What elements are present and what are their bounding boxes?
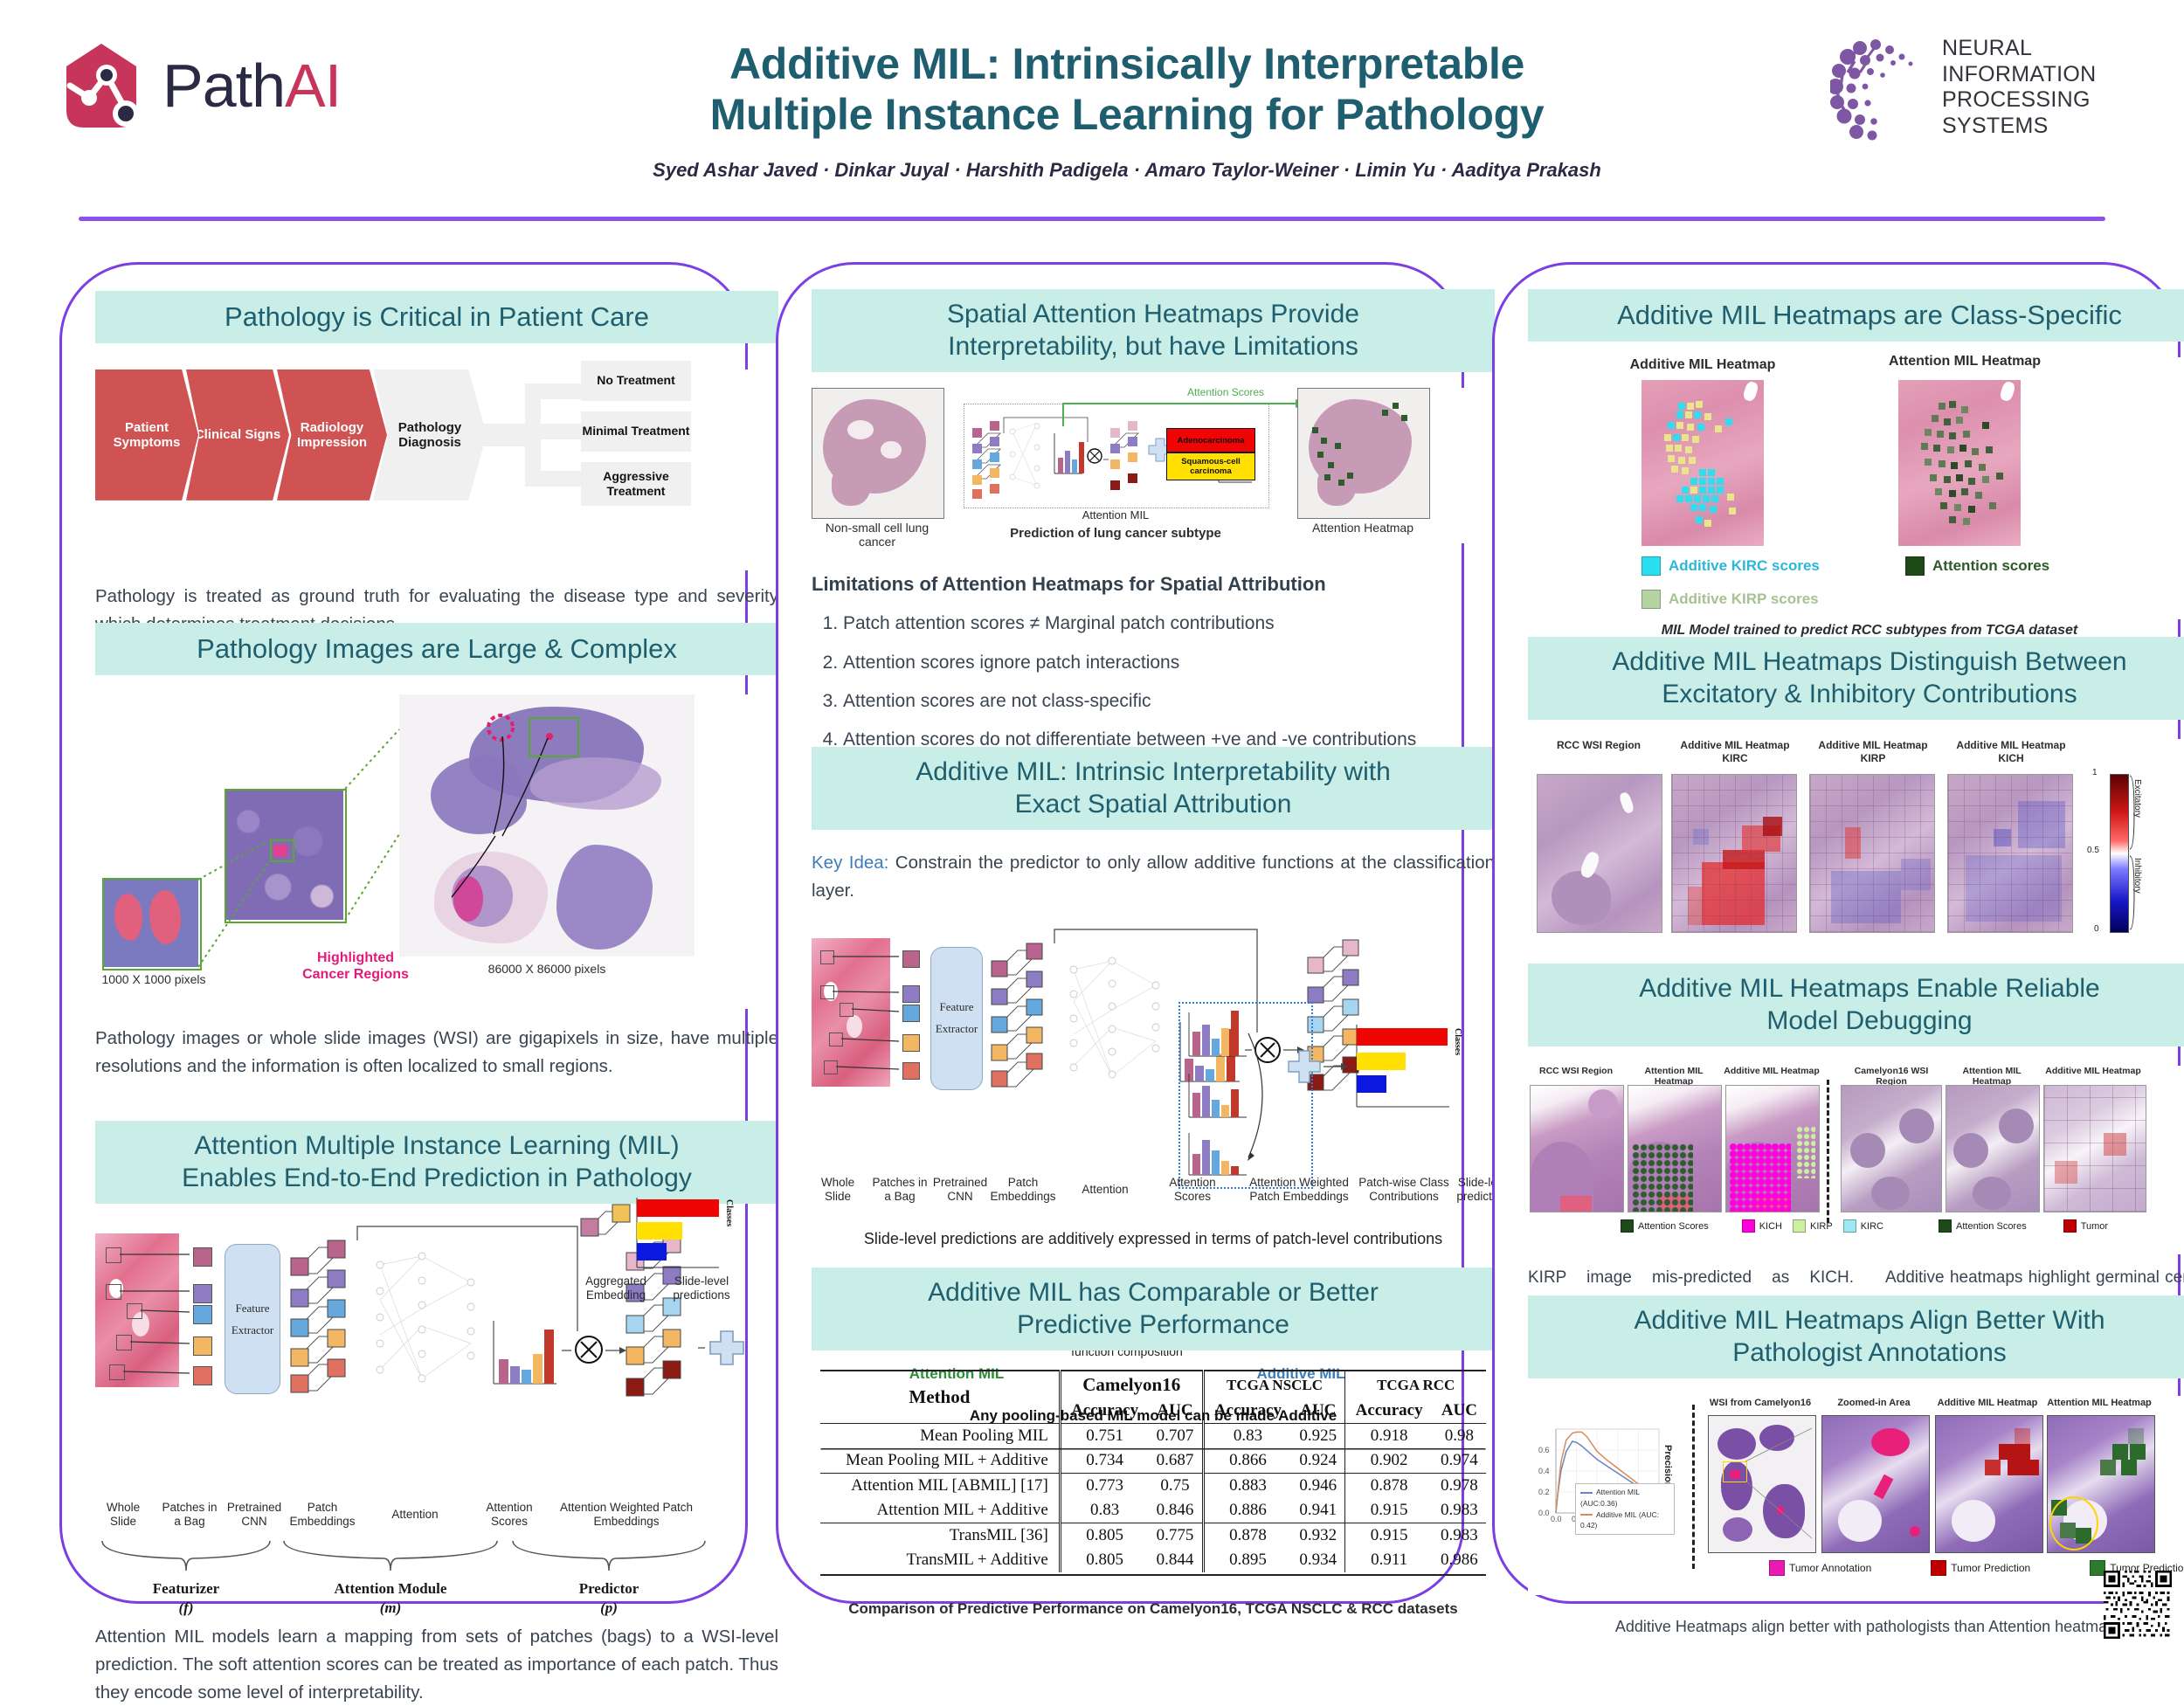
- heading-line-2: Interpretability, but have Limitations: [817, 331, 1489, 363]
- pathai-logo: PathAI: [52, 33, 428, 138]
- section-pathology-critical: Pathology is Critical in Patient Care Pa…: [62, 291, 812, 638]
- left-legend: Attention Scores KICH KIRP KIRC: [1621, 1219, 1883, 1233]
- group-header-0: Camelyon16: [1060, 1371, 1203, 1399]
- roi-box-large: [529, 717, 579, 757]
- limitations-title: Limitations of Attention Heatmaps for Sp…: [812, 573, 1495, 596]
- fig-title-right: Attention MIL Heatmap: [1877, 354, 2052, 370]
- panel-title-0: WSI from Camelyon16: [1706, 1398, 1814, 1408]
- title-line-1: Additive MIL: Intrinsically Interpretabl…: [612, 38, 1642, 89]
- heading-line-1: Additive MIL: Intrinsic Interpretability…: [817, 756, 1489, 789]
- predictor-output-figure: Classes Aggregated Embedding Slide-level…: [579, 1184, 750, 1306]
- module-symbol: (m): [321, 1599, 460, 1618]
- align-figure: 0.0 0.2 0.4 0.6 0.8 1.0 0.0 0.2 0.4 0.6 …: [1528, 1396, 2184, 1595]
- page-title: Additive MIL: Intrinsically Interpretabl…: [612, 38, 1642, 140]
- debug-panel-cam16: [1841, 1085, 1942, 1212]
- cell: 0.946: [1291, 1474, 1345, 1499]
- cell: 0.805: [1060, 1548, 1148, 1572]
- section-align: Additive MIL Heatmaps Align Better With …: [1495, 1295, 2184, 1636]
- colorbar-tick-2: 0: [2094, 924, 2099, 934]
- module-symbol: (f): [134, 1599, 238, 1618]
- align-panel-attention: [2047, 1415, 2155, 1553]
- attention-scores-arrow-label: Attention Scores: [1187, 386, 1264, 398]
- left-panel-title-0: RCC WSI Region: [1528, 1066, 1624, 1076]
- neurips-mark-icon: [1830, 34, 1933, 141]
- legend-label: Attention Scores: [1956, 1221, 2027, 1232]
- cell: 0.878: [1345, 1474, 1433, 1499]
- legend-swatch-kirp-icon: [1793, 1219, 1806, 1233]
- key-idea-paragraph: Key Idea: Constrain the predictor to onl…: [812, 849, 1495, 905]
- cell: 0.918: [1345, 1424, 1433, 1449]
- legend-kirc: Additive KIRC scores: [1641, 556, 1820, 576]
- rcc-wsi-panel: [1537, 774, 1662, 933]
- diagram-label-2: Pretrained CNN: [929, 1176, 992, 1204]
- cell: 0.83: [1203, 1424, 1291, 1449]
- legend-kirp: Additive KIRP scores: [1641, 590, 1819, 609]
- highlight-line-2: Cancer Regions: [294, 966, 417, 984]
- table-row: TransMIL + Additive 0.805 0.844 0.895 0.…: [820, 1548, 1486, 1572]
- neurips-line-2: PROCESSING SYSTEMS: [1942, 87, 2162, 139]
- diagram-label-0: Whole Slide: [92, 1501, 155, 1529]
- attention-heatmap-panel: [1297, 388, 1430, 519]
- heading-line-1: Spatial Attention Heatmaps Provide: [817, 299, 1489, 331]
- header-divider: [79, 217, 2105, 221]
- neurips-wordmark: NEURAL INFORMATION PROCESSING SYSTEMS: [1942, 36, 2162, 139]
- cell: 0.915: [1345, 1498, 1433, 1523]
- heatmap-kirc: [1671, 774, 1797, 933]
- left-panel-title-2: Additive MIL Heatmap: [1724, 1066, 1820, 1076]
- heading-line-2: Exact Spatial Attribution: [817, 789, 1489, 821]
- legend-swatch-kirp-icon: [1641, 590, 1661, 609]
- pathai-word-path: Path: [162, 52, 285, 120]
- section-excitatory: Additive MIL Heatmaps Distinguish Betwee…: [1495, 637, 2184, 966]
- heading-line-1: Additive MIL Heatmaps Distinguish Betwee…: [1533, 646, 2184, 679]
- section-body: Pathology images or whole slide images (…: [95, 1025, 778, 1081]
- cell: 0.986: [1433, 1548, 1486, 1572]
- left-panel-title-1: Attention MIL Heatmap: [1626, 1066, 1722, 1087]
- cell: 0.883: [1203, 1474, 1291, 1499]
- legend-swatch-tumor-annotation-icon: [1769, 1560, 1785, 1576]
- diagram-label-3: Patch Embeddings: [988, 1176, 1058, 1204]
- neurips-line-1: NEURAL INFORMATION: [1942, 36, 2162, 87]
- column-right: Additive MIL Heatmaps are Class-Specific…: [1492, 262, 2181, 1604]
- row-method: TransMIL + Additive: [820, 1548, 1060, 1572]
- colorbar-tick-1: 0.5: [2087, 846, 2099, 855]
- debug-panel-additive: [1725, 1085, 1820, 1212]
- wsi-full-slide: [399, 694, 695, 957]
- flow-outcome-2: Aggressive Treatment: [581, 462, 691, 506]
- module-braces: Featurizer (f) Attention Module (m) Pred…: [95, 1541, 778, 1616]
- pathai-mark-icon: [52, 37, 150, 135]
- section-heading: Additive MIL has Comparable or Better Pr…: [812, 1267, 1495, 1350]
- debug-panel-rcc: [1530, 1085, 1624, 1212]
- right-panel-title-0: Camelyon16 WSI Region: [1839, 1066, 1944, 1087]
- right-panel-title-2: Additive MIL Heatmap: [2042, 1066, 2145, 1076]
- excitatory-figure: RCC WSI Region Additive MIL Heatmap KIRC…: [1528, 739, 2184, 966]
- group-header-2-text: TCGA RCC: [1377, 1377, 1455, 1393]
- legend-item: KICH: [1742, 1219, 1782, 1233]
- panel-title-3: Additive MIL Heatmap KICH: [1944, 739, 2078, 764]
- row-method: TransMIL [36]: [820, 1523, 1060, 1549]
- fig-inner-label: Attention MIL: [964, 508, 1268, 521]
- plus-icon: [707, 1328, 747, 1368]
- group-header-1-text: TCGA NSCLC: [1227, 1377, 1323, 1393]
- section-performance: Additive MIL has Comparable or Better Pr…: [778, 1267, 1528, 1618]
- cell: 0.974: [1433, 1448, 1486, 1474]
- legend-item: Attention Scores: [1939, 1219, 2027, 1233]
- heading-line-1: Additive MIL Heatmaps Align Better With: [1533, 1305, 2184, 1337]
- debugging-figure: RCC WSI Region Attention MIL Heatmap Add…: [1528, 1066, 2184, 1254]
- legend-label: Tumor Prediction: [1951, 1562, 2030, 1574]
- fig-caption-left: Non-small cell lung cancer: [812, 521, 943, 549]
- heatmap-kich: [1947, 774, 2073, 933]
- debug-panel-cam16-additive: [2043, 1085, 2146, 1212]
- legend-label: Attention scores: [1932, 557, 2049, 575]
- heading-line-2: Model Debugging: [1533, 1005, 2184, 1038]
- fig-caption-right: Attention Heatmap: [1297, 521, 1428, 535]
- list-item: Attention scores are not class-specific: [843, 689, 1495, 714]
- diagram-label-5: Attention Scores: [1154, 1176, 1231, 1204]
- section-caption: Additive Heatmaps align better with path…: [1528, 1618, 2184, 1636]
- legend-swatch-kirc-icon: [1641, 556, 1661, 576]
- right-legend: Attention Scores Tumor: [1939, 1219, 2108, 1233]
- panel-title-2: Additive MIL Heatmap KIRP: [1806, 739, 1940, 764]
- panel-title-3: Attention MIL Heatmap: [2045, 1398, 2153, 1408]
- legend-swatch-attention-icon: [1621, 1219, 1634, 1233]
- section-heading: Additive MIL Heatmaps Distinguish Betwee…: [1528, 637, 2184, 720]
- qr-code-icon[interactable]: [2104, 1571, 2172, 1639]
- wsi-zoom-figure: Highlighted Cancer Regions 1000 X 1000 p…: [95, 694, 778, 1009]
- heatmap-kirp: [1809, 774, 1935, 933]
- panel-title-1: Additive MIL Heatmap KIRC: [1668, 739, 1802, 764]
- section-images-large: Pathology Images are Large & Complex: [62, 623, 812, 1080]
- neurips-logo: NEURAL INFORMATION PROCESSING SYSTEMS: [1830, 31, 2162, 144]
- section-heading: Additive MIL Heatmaps Enable Reliable Mo…: [1528, 964, 2184, 1046]
- table-head: Method Camelyon16 TCGA NSCLC TCGA RCC Ac…: [820, 1371, 1486, 1424]
- legend-swatch-kirc-icon: [1843, 1219, 1856, 1233]
- cell: 0.98: [1433, 1424, 1486, 1449]
- classes-axis-label: Classes: [724, 1199, 734, 1226]
- section-heading: Spatial Attention Heatmaps Provide Inter…: [812, 289, 1495, 372]
- xtick-0: 0.0: [1551, 1515, 1562, 1523]
- legend-label: Additive KIRP scores: [1669, 591, 1819, 608]
- panel-title-2: Additive MIL Heatmap: [1933, 1398, 2042, 1408]
- module-label-1: Attention Module (m): [321, 1579, 460, 1618]
- title-line-2: Multiple Instance Learning for Pathology: [612, 89, 1642, 140]
- scale-label-large: 86000 X 86000 pixels: [399, 962, 695, 976]
- legend-label: Tumor Annotation: [1789, 1562, 1871, 1574]
- list-item: Patch attention scores ≠ Marginal patch …: [843, 611, 1495, 636]
- section-class-specific: Additive MIL Heatmaps are Class-Specific…: [1495, 289, 2184, 639]
- section-spatial-heatmaps: Spatial Attention Heatmaps Provide Inter…: [778, 289, 1528, 767]
- heading-line-2: Predictive Performance: [817, 1309, 1489, 1342]
- diagram-label-7: Aggregated Embedding: [574, 1274, 658, 1302]
- cell: 0.925: [1291, 1424, 1345, 1449]
- legend-label: Additive MIL (AUC: 0.42): [1580, 1510, 1659, 1530]
- performance-table-wrap: Method Camelyon16 TCGA NSCLC TCGA RCC Ac…: [812, 1370, 1495, 1576]
- author-list: Syed Ashar Javed · Dinkar Juyal · Harshi…: [612, 159, 1642, 182]
- diagram-label-2: Pretrained CNN: [221, 1501, 287, 1529]
- pathai-wordmark: PathAI: [162, 55, 341, 116]
- additive-note: Slide-level predictions are additively e…: [812, 1230, 1495, 1248]
- flow-connector-top: [525, 383, 583, 399]
- legend-label: KIRC: [1861, 1221, 1883, 1232]
- diagram-label-4: Attention: [1067, 1183, 1144, 1197]
- legend-label: Attention Scores: [1638, 1221, 1709, 1232]
- flow-connector-mid: [525, 424, 583, 439]
- poster-root: PathAI Additive MIL: Intrinsically Inter…: [0, 0, 2184, 1638]
- cell: 0.911: [1345, 1548, 1433, 1572]
- metric-header-acc-2: Accuracy: [1345, 1399, 1433, 1424]
- heading-line-1: Additive MIL has Comparable or Better: [817, 1277, 1489, 1309]
- list-item: Attention scores ignore patch interactio…: [843, 651, 1495, 675]
- section-heading: Additive MIL: Intrinsic Interpretability…: [812, 747, 1495, 830]
- flow-outcome-1: Minimal Treatment: [581, 411, 691, 452]
- cell: 0.707: [1148, 1424, 1203, 1449]
- flow-stage-2: Radiology Impression: [277, 370, 387, 501]
- section-body: Attention MIL models learn a mapping fro…: [95, 1623, 778, 1706]
- cell: 0.895: [1203, 1548, 1291, 1572]
- diagram-label-6: Attention Weighted Patch Embeddings: [1233, 1176, 1365, 1204]
- cell: 0.75: [1148, 1474, 1203, 1499]
- row-method: Attention MIL [ABMIL] [17]: [820, 1474, 1060, 1499]
- col-header-method: Method: [820, 1371, 1060, 1424]
- legend-item: KIRP: [1793, 1219, 1833, 1233]
- debug-panel-cam16-attention: [1946, 1085, 2040, 1212]
- module-name: Attention Module: [321, 1579, 460, 1599]
- diagram-label-5: Attention Scores: [469, 1501, 549, 1529]
- section-heading: Additive MIL Heatmaps are Class-Specific: [1528, 289, 2184, 342]
- module-label-0: Featurizer (f): [134, 1579, 238, 1618]
- lung-subtype-figure: Non-small cell lung cancer: [812, 388, 1495, 543]
- legend-item: Attention Scores: [1621, 1219, 1709, 1233]
- cell: 0.775: [1148, 1523, 1203, 1549]
- cell: 0.734: [1060, 1448, 1148, 1474]
- ytick-0: 0.0: [1538, 1509, 1550, 1517]
- heading-line-1: Attention Multiple Instance Learning (MI…: [100, 1130, 773, 1163]
- cell: 0.983: [1433, 1523, 1486, 1549]
- legend-swatch-tumor-icon: [2063, 1219, 2077, 1233]
- diagram-label-4: Attention: [375, 1508, 455, 1522]
- metric-header-auc-2: AUC: [1433, 1399, 1486, 1424]
- module-name: Featurizer: [134, 1579, 238, 1599]
- cell: 0.978: [1433, 1474, 1486, 1499]
- diagram-label-6: Attention Weighted Patch Embeddings: [553, 1501, 700, 1529]
- flow-chevrons: Patient Symptoms Clinical Signs Radiolog…: [95, 370, 778, 501]
- heading-line-2: Excitatory & Inhibitory Contributions: [1533, 679, 2184, 711]
- column-left: Pathology is Critical in Patient Care Pa…: [59, 262, 748, 1604]
- section-heading: Pathology is Critical in Patient Care: [95, 291, 778, 343]
- cell: 0.805: [1060, 1523, 1148, 1549]
- flow-connector-bottom: [525, 471, 583, 487]
- group-header-2: TCGA RCC: [1345, 1371, 1486, 1399]
- ytick-3: 0.6: [1538, 1446, 1550, 1454]
- module-label-2: Predictor (p): [556, 1579, 661, 1618]
- table-row: Attention MIL [ABMIL] [17] 0.773 0.75 0.…: [820, 1474, 1486, 1499]
- legend-item: KIRC: [1843, 1219, 1883, 1233]
- diagram-label-8: Slide-level predictions: [660, 1274, 743, 1302]
- performance-table: Method Camelyon16 TCGA NSCLC TCGA RCC Ac…: [820, 1370, 1486, 1572]
- additive-heatmap-panel: [1641, 380, 1764, 546]
- fig-title-left: Additive MIL Heatmap: [1615, 357, 1790, 373]
- flow-stage-1: Clinical Signs: [186, 370, 289, 501]
- table-row: Mean Pooling MIL 0.751 0.707 0.83 0.925 …: [820, 1424, 1486, 1449]
- debug-panel-attention: [1628, 1085, 1722, 1212]
- section-heading: Additive MIL Heatmaps Align Better With …: [1528, 1295, 2184, 1378]
- legend-label: Tumor: [2081, 1221, 2108, 1232]
- pathai-word-ai: AI: [285, 52, 341, 120]
- legend-label: Additive KIRC scores: [1669, 557, 1820, 575]
- class-box-squamous: Squamous-cell carcinoma: [1166, 452, 1255, 480]
- legend-entry: Additive MIL (AUC: 0.42): [1580, 1509, 1669, 1532]
- cell: 0.878: [1203, 1523, 1291, 1549]
- flow-outcome-0: No Treatment: [581, 361, 691, 401]
- patient-care-flow-figure: Patient Symptoms Clinical Signs Radiolog…: [95, 370, 778, 570]
- cell: 0.846: [1148, 1498, 1203, 1523]
- cell: 0.751: [1060, 1424, 1148, 1449]
- metric-header-acc-0: Accuracy: [1060, 1399, 1148, 1424]
- heading-line-2: Pathologist Annotations: [1533, 1337, 2184, 1370]
- key-idea-label: Key Idea:: [812, 853, 888, 873]
- align-panel-zoom: [1821, 1415, 1930, 1553]
- legend-label: KICH: [1759, 1221, 1782, 1232]
- cell: 0.924: [1291, 1448, 1345, 1474]
- flow-stage-3: Pathology Diagnosis: [373, 370, 487, 501]
- table-row: Attention MIL + Additive 0.83 0.846 0.88…: [820, 1498, 1486, 1523]
- highlight-cancer-label: Highlighted Cancer Regions: [294, 950, 417, 984]
- panel-title-0: RCC WSI Region: [1533, 739, 1664, 751]
- diagram-label-1: Patches in a Bag: [869, 1176, 930, 1204]
- cell: 0.932: [1291, 1523, 1345, 1549]
- excitatory-colorbar: [2110, 774, 2129, 933]
- class-specific-figure: Additive MIL Heatmap Attention MIL Heatm…: [1528, 357, 2184, 619]
- column-middle: Spatial Attention Heatmaps Provide Inter…: [776, 262, 1464, 1604]
- metric-header-auc-1: AUC: [1291, 1399, 1345, 1424]
- table-row: TransMIL [36] 0.805 0.775 0.878 0.932 0.…: [820, 1523, 1486, 1549]
- pr-curve-legend: Attention MIL (AUC:0.36) Additive MIL (A…: [1575, 1483, 1675, 1535]
- cell: 0.915: [1345, 1523, 1433, 1549]
- diagram-label-1: Patches in a Bag: [158, 1501, 221, 1529]
- legend-attention: Attention scores: [1905, 556, 2049, 576]
- colorbar-tick-0: 1: [2092, 768, 2098, 777]
- section-heading: Pathology Images are Large & Complex: [95, 623, 778, 675]
- additive-mil-labels: Whole Slide Patches in a Bag Pretrained …: [812, 1176, 1495, 1218]
- table-header-row-groups: Method Camelyon16 TCGA NSCLC TCGA RCC: [820, 1371, 1486, 1399]
- legend-label: Attention MIL (AUC:0.36): [1580, 1488, 1640, 1508]
- legend-item: Tumor: [2063, 1219, 2108, 1233]
- legend-item: Tumor Annotation: [1769, 1560, 1871, 1576]
- legend-entry: Attention MIL (AUC:0.36): [1580, 1487, 1669, 1509]
- legend-swatch-kich-icon: [1742, 1219, 1755, 1233]
- cell: 0.886: [1203, 1498, 1291, 1523]
- figure-divider: [1692, 1405, 1695, 1569]
- legend-swatch-tumor-prediction-red-icon: [1931, 1560, 1946, 1576]
- legend-swatch-attention-icon: [1939, 1219, 1952, 1233]
- metric-header-acc-1: Accuracy: [1203, 1399, 1291, 1424]
- heading-line-1: Additive MIL Heatmaps Enable Reliable: [1533, 973, 2184, 1005]
- cell: 0.983: [1433, 1498, 1486, 1523]
- panel-title-1: Zoomed-in Area: [1820, 1398, 1928, 1408]
- cell: 0.866: [1203, 1448, 1291, 1474]
- table-row: Mean Pooling MIL + Additive 0.734 0.687 …: [820, 1448, 1486, 1474]
- flow-stage-0: Patient Symptoms: [95, 370, 198, 501]
- title-block: Additive MIL: Intrinsically Interpretabl…: [612, 38, 1642, 182]
- scale-label-small: 1000 X 1000 pixels: [95, 972, 212, 986]
- y-axis-label: Precision: [1662, 1445, 1673, 1488]
- align-panel-wsi: [1708, 1415, 1816, 1553]
- legend-swatch-attention-icon: [1905, 556, 1925, 576]
- section-debugging: Additive MIL Heatmaps Enable Reliable Mo…: [1495, 964, 2184, 1343]
- limitations-list: Patch attention scores ≠ Marginal patch …: [812, 611, 1495, 752]
- cell: 0.687: [1148, 1448, 1203, 1474]
- cell: 0.941: [1291, 1498, 1345, 1523]
- ytick-2: 0.4: [1538, 1467, 1550, 1475]
- group-header-1: TCGA NSCLC: [1203, 1371, 1345, 1399]
- right-panel-title-1: Attention MIL Heatmap: [1944, 1066, 2040, 1087]
- roi-box-mid-inner: [270, 839, 294, 862]
- panel-divider: [1827, 1080, 1829, 1223]
- module-symbol: (p): [556, 1599, 661, 1618]
- row-method: Attention MIL + Additive: [820, 1498, 1060, 1523]
- diagram-label-3: Patch Embeddings: [286, 1501, 359, 1529]
- ytick-1: 0.2: [1538, 1488, 1550, 1496]
- cell: 0.902: [1345, 1448, 1433, 1474]
- legend-label: KIRP: [1810, 1221, 1833, 1232]
- cell: 0.773: [1060, 1474, 1148, 1499]
- diagram-label-0: Whole Slide: [808, 1176, 867, 1204]
- cell: 0.844: [1148, 1548, 1203, 1572]
- poster-header: PathAI Additive MIL: Intrinsically Inter…: [0, 0, 2184, 218]
- pr-curve-chart: 0.0 0.2 0.4 0.6 0.8 1.0 0.0 0.2 0.4 0.6 …: [1537, 1424, 1675, 1543]
- table-body: Mean Pooling MIL 0.751 0.707 0.83 0.925 …: [820, 1424, 1486, 1573]
- row-method: Mean Pooling MIL: [820, 1424, 1060, 1449]
- attention-heatmap-panel: [1898, 380, 2021, 546]
- lung-wsi-panel: [812, 388, 944, 519]
- key-idea-body: Constrain the predictor to only allow ad…: [812, 853, 1495, 901]
- module-name: Predictor: [556, 1579, 661, 1599]
- align-panel-additive: [1935, 1415, 2043, 1553]
- roi-box-small: [102, 878, 202, 970]
- legend-item: Tumor Prediction: [1931, 1560, 2030, 1576]
- attention-mil-labels: Whole Slide Patches in a Bag Pretrained …: [95, 1501, 778, 1541]
- table-caption: Comparison of Predictive Performance on …: [812, 1600, 1495, 1618]
- row-method: Mean Pooling MIL + Additive: [820, 1448, 1060, 1474]
- cell: 0.83: [1060, 1498, 1148, 1523]
- fig-caption-center: Prediction of lung cancer subtype: [964, 526, 1268, 541]
- highlight-line-1: Highlighted: [294, 950, 417, 967]
- metric-header-auc-0: AUC: [1148, 1399, 1203, 1424]
- cell: 0.934: [1291, 1548, 1345, 1572]
- classes-axis-label: Classes: [1453, 1028, 1462, 1055]
